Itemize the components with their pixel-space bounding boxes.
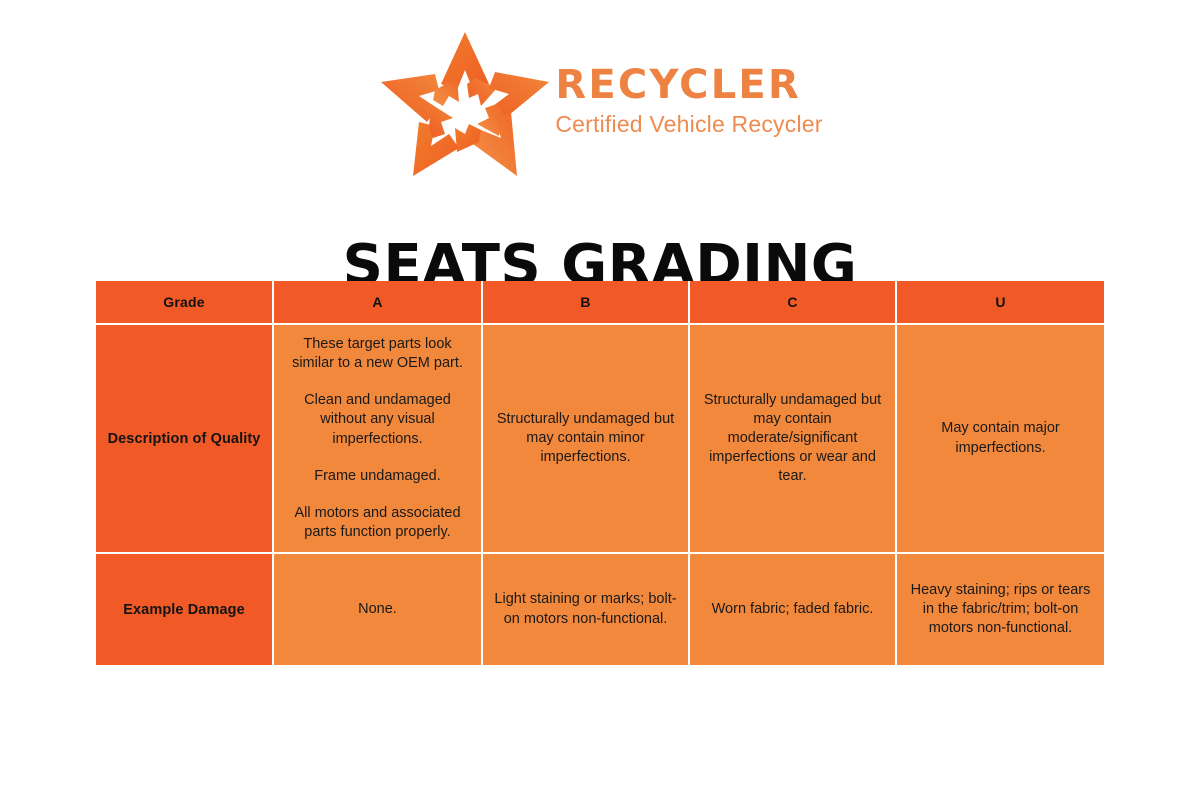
seats-grading-page: RECYCLER Certified Vehicle Recycler SEAT… [0,0,1200,800]
cell-damage-a: None. [274,554,483,665]
cell-paragraph: Clean and undamaged without any visual i… [284,391,471,448]
cell-damage-u: Heavy staining; rips or tears in the fab… [897,554,1104,665]
brand-name: RECYCLER [555,64,822,106]
column-header-grade: Grade [96,281,274,325]
column-header-c: C [690,281,897,325]
seats-grading-table: Grade A B C U Description of Quality The… [96,281,1104,665]
brand-logo: RECYCLER Certified Vehicle Recycler [0,28,1200,180]
cell-paragraph: Structurally undamaged but may contain m… [700,391,885,487]
brand-wordmark: RECYCLER Certified Vehicle Recycler [555,64,822,145]
column-header-b: B [483,281,690,325]
cell-description-c: Structurally undamaged but may contain m… [690,325,897,554]
cell-description-a: These target parts look similar to a new… [274,325,483,554]
recycle-star-icon [377,28,553,180]
table-row: Example Damage None. Light staining or m… [96,554,1104,665]
row-label-description-of-quality: Description of Quality [96,325,274,554]
column-header-u: U [897,281,1104,325]
row-label-example-damage: Example Damage [96,554,274,665]
brand-logo-inner: RECYCLER Certified Vehicle Recycler [377,28,822,180]
table-header-row: Grade A B C U [96,281,1104,325]
cell-paragraph: Worn fabric; faded fabric. [700,600,885,619]
cell-description-b: Structurally undamaged but may contain m… [483,325,690,554]
cell-paragraph: Heavy staining; rips or tears in the fab… [907,581,1094,638]
cell-paragraph: These target parts look similar to a new… [284,335,471,373]
brand-tagline: Certified Vehicle Recycler [555,110,822,139]
cell-paragraph: Frame undamaged. [284,467,471,486]
cell-paragraph: None. [284,600,471,619]
cell-paragraph: All motors and associated parts function… [284,504,471,542]
cell-damage-c: Worn fabric; faded fabric. [690,554,897,665]
cell-paragraph: Structurally undamaged but may contain m… [493,410,678,467]
cell-paragraph: May contain major imperfections. [907,419,1094,457]
table-header: Grade A B C U [96,281,1104,325]
cell-paragraph: Light staining or marks; bolt-on motors … [493,590,678,628]
table-body: Description of Quality These target part… [96,325,1104,665]
cell-description-u: May contain major imperfections. [897,325,1104,554]
table-row: Description of Quality These target part… [96,325,1104,554]
cell-damage-b: Light staining or marks; bolt-on motors … [483,554,690,665]
column-header-a: A [274,281,483,325]
